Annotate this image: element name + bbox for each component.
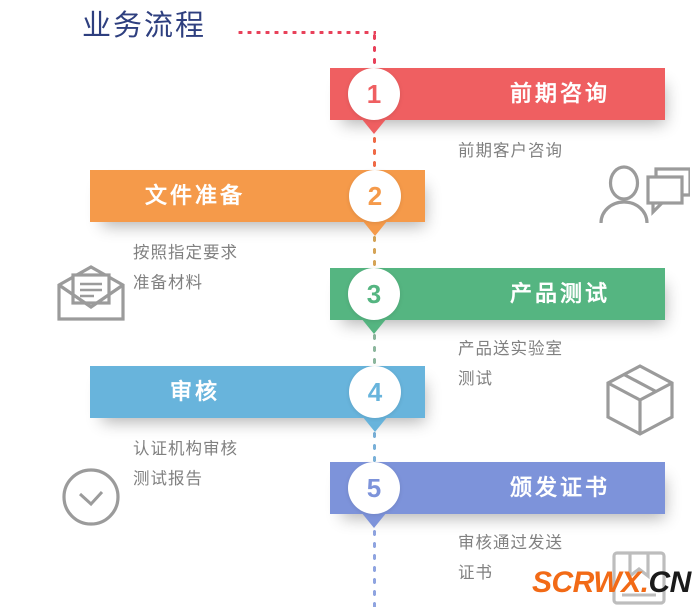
step-1-caption: 前期客户咨询 xyxy=(458,136,563,166)
connector-top-vertical xyxy=(373,31,376,69)
business-flow-diagram: 业务流程 前期咨询 1 前期客户咨询 文件准备 2 按照指定要求 准备材料 xyxy=(0,0,697,614)
step-5-pointer xyxy=(361,512,387,528)
step-4-number: 4 xyxy=(349,366,401,418)
step-4-pointer xyxy=(362,416,388,432)
connector-3-to-4 xyxy=(373,331,376,369)
step-1-pointer xyxy=(361,118,387,134)
step-3-circle[interactable]: 3 xyxy=(348,268,400,320)
connector-tail xyxy=(373,527,376,607)
package-box-icon xyxy=(602,362,678,443)
step-3-caption: 产品送实验室 测试 xyxy=(458,334,563,394)
step-4-circle[interactable]: 4 xyxy=(349,366,401,418)
step-5-number: 5 xyxy=(348,462,400,514)
watermark-primary: SCRWX xyxy=(532,566,641,599)
step-2-number: 2 xyxy=(349,170,401,222)
step-3-title: 产品测试 xyxy=(455,268,665,320)
watermark-secondary: CN xyxy=(648,566,690,599)
step-2-title: 文件准备 xyxy=(90,170,300,222)
step-4-title: 审核 xyxy=(90,366,300,418)
connector-2-to-3 xyxy=(373,233,376,271)
step-3-pointer xyxy=(361,318,387,334)
step-2-pointer xyxy=(362,220,388,236)
page-title: 业务流程 xyxy=(82,2,206,44)
connector-1-to-2 xyxy=(373,134,376,172)
step-2-caption: 按照指定要求 准备材料 xyxy=(133,238,238,298)
envelope-icon xyxy=(55,265,127,330)
connector-top-horizontal xyxy=(236,31,376,34)
watermark: SCRWX.CN xyxy=(532,566,691,600)
step-5-title: 颁发证书 xyxy=(455,462,665,514)
step-4-caption: 认证机构审核 测试报告 xyxy=(133,434,238,494)
person-chat-icon xyxy=(598,165,690,232)
check-circle-icon xyxy=(60,466,122,533)
step-3-number: 3 xyxy=(348,268,400,320)
step-2-circle[interactable]: 2 xyxy=(349,170,401,222)
step-1-title: 前期咨询 xyxy=(455,68,665,120)
step-1-number: 1 xyxy=(348,68,400,120)
step-5-circle[interactable]: 5 xyxy=(348,462,400,514)
step-1-circle[interactable]: 1 xyxy=(348,68,400,120)
